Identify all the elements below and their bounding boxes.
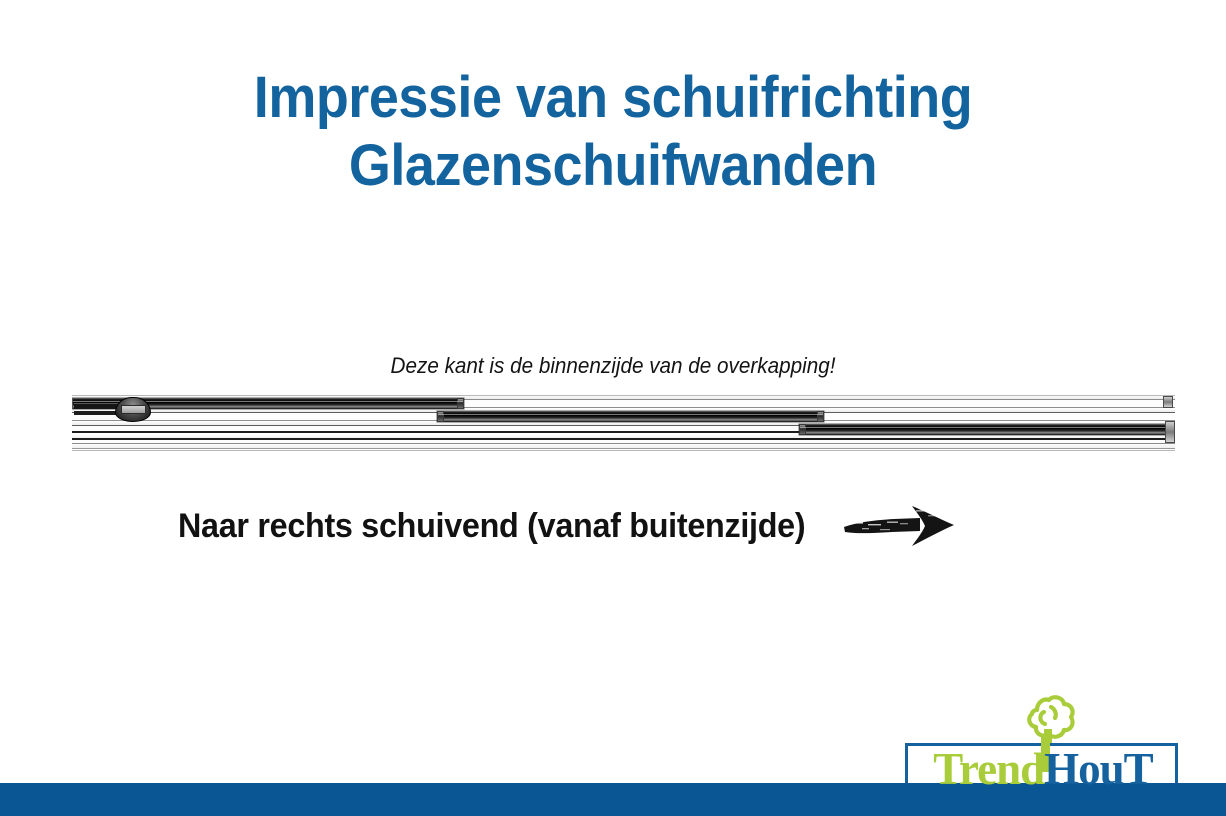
rail-line: [72, 443, 1175, 444]
slide-canvas: Impressie van schuifrichting Glazenschui…: [0, 0, 1226, 816]
inside-caption: Deze kant is de binnenzijde van de overk…: [37, 353, 1189, 379]
sliding-panel-2[interactable]: [437, 411, 824, 422]
right-end-profile: [1165, 421, 1175, 443]
title-line-2: Glazenschuifwanden: [43, 132, 1183, 200]
sliding-panel-3[interactable]: [799, 424, 1175, 435]
rail-line: [72, 448, 1175, 449]
direction-row: Naar rechts schuivend (vanaf buitenzijde…: [178, 503, 958, 549]
page-title: Impressie van schuifrichting Glazenschui…: [43, 64, 1183, 201]
logo-word-trend: Trend: [933, 747, 1044, 792]
right-end-profile: [1163, 396, 1173, 408]
panel-start-cap: [799, 424, 806, 435]
panel-end-cap: [457, 398, 464, 409]
sliding-wall-diagram: [72, 395, 1175, 451]
handle-plate: [121, 405, 146, 414]
direction-label: Naar rechts schuivend (vanaf buitenzijde…: [178, 507, 805, 546]
title-line-1: Impressie van schuifrichting: [43, 64, 1183, 132]
trendhout-logo[interactable]: TrendHouT: [905, 694, 1180, 798]
logo-wordmark: TrendHouT: [912, 744, 1174, 795]
rail-line: [72, 438, 1175, 440]
diagram-edge-bottom: [72, 450, 1175, 451]
panel-end-cap: [817, 411, 824, 422]
sliding-door-handle-icon[interactable]: [112, 396, 154, 423]
logo-word-hout: HouT: [1044, 747, 1153, 792]
handle-bar-2: [74, 411, 120, 415]
right-arrow-brush-icon: [842, 503, 958, 549]
panel-start-cap: [437, 411, 444, 422]
